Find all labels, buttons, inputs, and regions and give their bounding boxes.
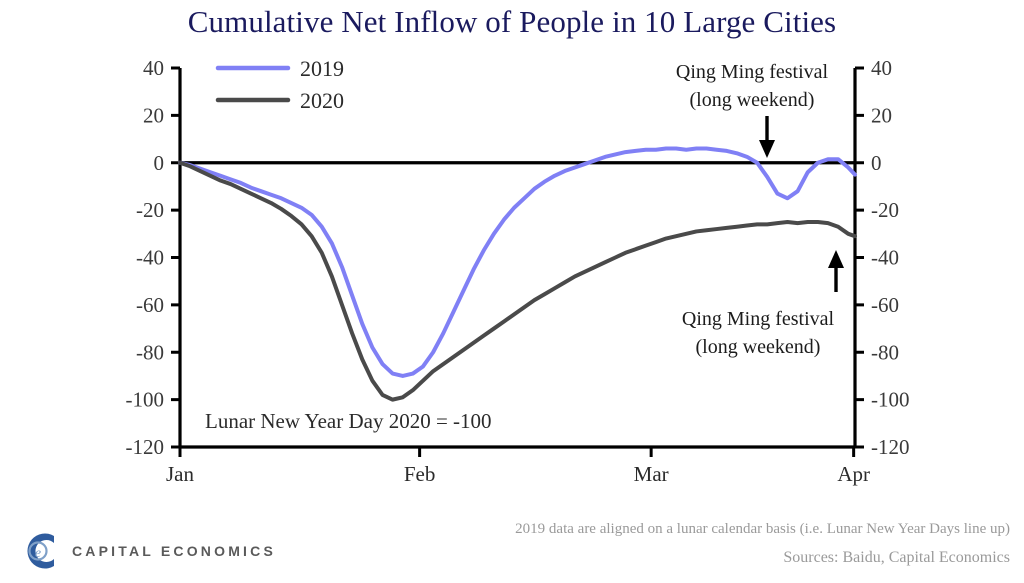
chart-container: Cumulative Net Inflow of People in 10 La… xyxy=(0,0,1024,583)
y-tick-label-left: -40 xyxy=(136,246,164,270)
capital-economics-logo: e CAPITAL ECONOMICS xyxy=(14,529,276,573)
lunar-new-year-note: Lunar New Year Day 2020 = -100 xyxy=(205,409,492,433)
y-tick-label-right: -20 xyxy=(871,198,899,222)
x-tick-label: Feb xyxy=(404,462,436,486)
chart-plot-area: 4040202000-20-20-40-40-60-60-80-80-100-1… xyxy=(0,0,1024,500)
y-tick-label-right: -120 xyxy=(871,435,910,459)
y-tick-label-left: -60 xyxy=(136,293,164,317)
y-tick-label-right: 0 xyxy=(871,151,882,175)
y-tick-label-left: -100 xyxy=(126,388,165,412)
y-tick-label-left: 20 xyxy=(143,103,164,127)
annotation-lower-line2: (long weekend) xyxy=(696,336,821,358)
y-tick-label-right: -60 xyxy=(871,293,899,317)
chart-annotations: Qing Ming festival(long weekend)Qing Min… xyxy=(205,61,844,433)
sources-line: Sources: Baidu, Capital Economics xyxy=(783,549,1010,567)
logo-text: CAPITAL ECONOMICS xyxy=(72,543,276,559)
y-tick-label-left: -20 xyxy=(136,198,164,222)
chart-legend: 20192020 xyxy=(218,56,344,113)
legend-label-2020: 2020 xyxy=(300,88,344,113)
x-tick-label: Apr xyxy=(837,462,870,486)
logo-c-icon: e xyxy=(14,529,60,573)
y-tick-label-right: -40 xyxy=(871,246,899,270)
y-tick-label-left: 0 xyxy=(154,151,165,175)
annotation-upper-line2: (long weekend) xyxy=(690,89,815,111)
annotation-upper-line1: Qing Ming festival xyxy=(676,61,829,83)
arrow-down-icon xyxy=(759,116,775,158)
y-tick-label-right: -80 xyxy=(871,340,899,364)
y-tick-label-left: -120 xyxy=(126,435,165,459)
x-tick-label: Jan xyxy=(166,462,194,486)
annotation-lower-line1: Qing Ming festival xyxy=(682,308,835,330)
svg-text:e: e xyxy=(35,546,41,561)
x-tick-label: Mar xyxy=(634,462,669,486)
footnote: 2019 data are aligned on a lunar calenda… xyxy=(515,521,1010,538)
y-tick-label-left: -80 xyxy=(136,340,164,364)
legend-label-2019: 2019 xyxy=(300,56,344,81)
arrow-up-icon xyxy=(828,250,844,292)
y-tick-label-right: 20 xyxy=(871,103,892,127)
y-tick-label-right: -100 xyxy=(871,388,910,412)
y-tick-label-right: 40 xyxy=(871,56,892,80)
data-series xyxy=(180,149,855,400)
y-tick-label-left: 40 xyxy=(143,56,164,80)
